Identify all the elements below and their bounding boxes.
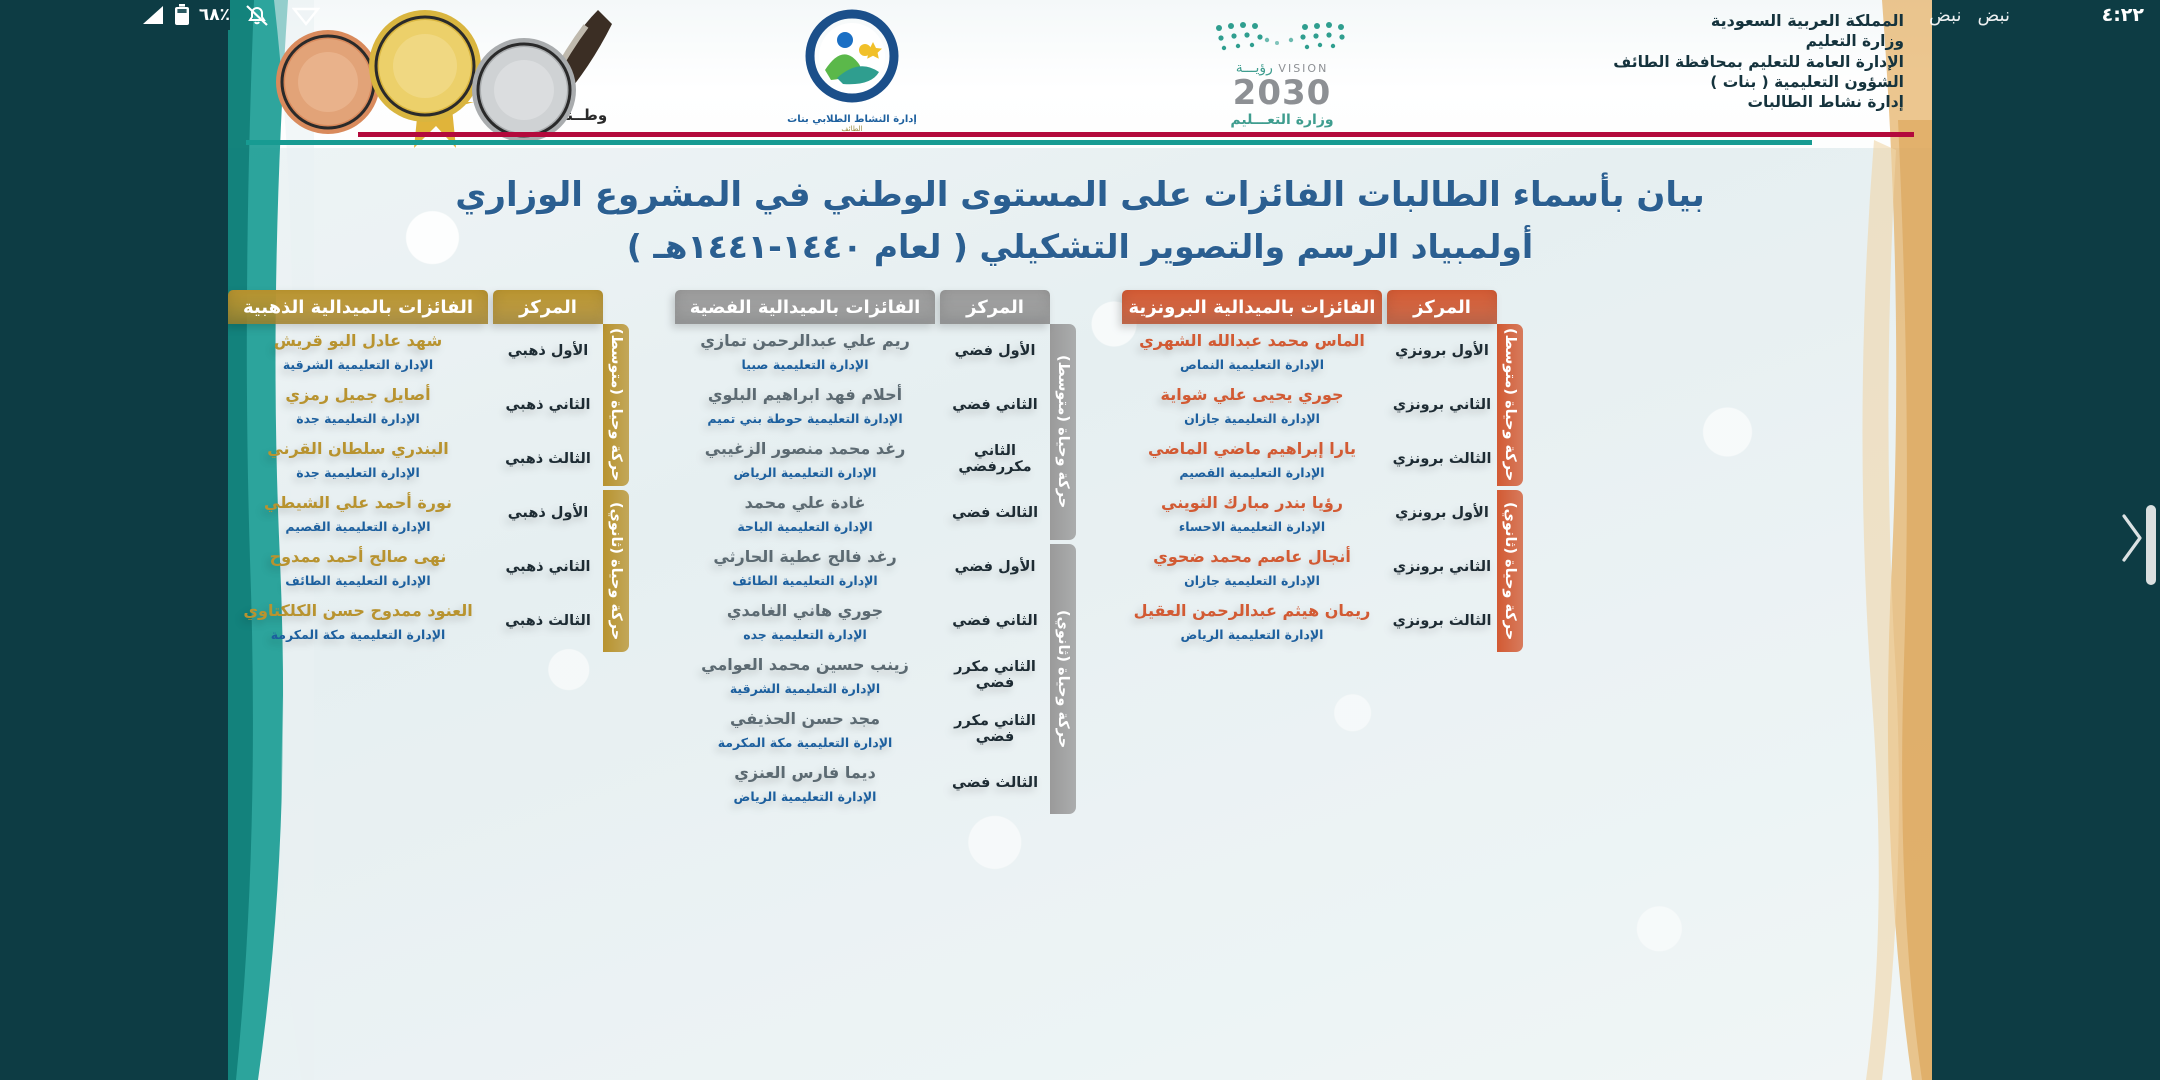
clock-label: ٤:٢٢ xyxy=(2102,4,2144,26)
rank-cell: الثاني برونزي xyxy=(1387,378,1497,432)
divider-teal xyxy=(246,140,1812,145)
rank-column: المركزالأول ذهبيالثاني ذهبيالثالث ذهبيال… xyxy=(488,290,603,648)
rank-cell: الأول برونزي xyxy=(1387,324,1497,378)
winner-name: ريمان هيثم عبدالرحمن العقيل xyxy=(1134,600,1371,622)
battery-percent-label: ٪٦٨ xyxy=(199,5,230,25)
winner-department: الإدارة التعليمية الرياض xyxy=(734,789,877,804)
medal-table-silver: حركة وحياة (متوسط)حركة وحياة (ثانوي)المر… xyxy=(675,290,1076,1070)
table-row: جوري يحيى علي شوايةالإدارة التعليمية جاز… xyxy=(1122,378,1382,432)
table-row: البندري سلطان القرنيالإدارة التعليمية جد… xyxy=(228,432,488,486)
table-row: العنود ممدوح حسن الكلكتاويالإدارة التعلي… xyxy=(228,594,488,648)
rank-cell: الثاني ذهبي xyxy=(493,378,603,432)
stage-strip-column: حركة وحياة (متوسط)حركة وحياة (ثانوي) xyxy=(1050,324,1076,814)
rank-cell: الثاني فضي xyxy=(940,378,1050,432)
winner-name: رغد محمد منصور الزغيبي xyxy=(705,438,906,460)
table-row: نورة أحمد علي الشيطيالإدارة التعليمية ال… xyxy=(228,486,488,540)
app-root: المملكة العربية السعودية وزارة التعليم ا… xyxy=(0,0,2160,1080)
winner-name: الماس محمد عبدالله الشهري xyxy=(1139,330,1365,352)
winner-name: شهد عادل البو قريش xyxy=(274,330,442,352)
winner-name: مجد حسن الحذيفي xyxy=(730,708,880,730)
winner-department: الإدارة التعليمية الشرقية xyxy=(283,357,433,372)
rank-cell: الثالث ذهبي xyxy=(493,594,603,648)
rank-cell: الأول برونزي xyxy=(1387,486,1497,540)
stage-label: حركة وحياة (متوسط) xyxy=(1497,324,1523,486)
rank-cell: الأول ذهبي xyxy=(493,324,603,378)
rank-cell: الثاني ذهبي xyxy=(493,540,603,594)
rank-cell: الثاني برونزي xyxy=(1387,540,1497,594)
table-row: أحلام فهد ابراهيم البلويالإدارة التعليمي… xyxy=(675,378,935,432)
winner-name: جوري هاني الغامدي xyxy=(727,600,883,622)
winner-name: ريم علي عبدالرحمن تمازي xyxy=(700,330,910,352)
column-header-winners: الفائزات بالميدالية البرونزية xyxy=(1122,290,1382,324)
table-row: غادة علي محمدالإدارة التعليمية الباحة xyxy=(675,486,935,540)
stage-label: حركة وحياة (متوسط) xyxy=(1050,324,1076,540)
rank-cell: الثاني مكرر فضي xyxy=(940,702,1050,756)
status-right-group: ٤:٢٢ xyxy=(2040,0,2160,30)
winner-name: العنود ممدوح حسن الكلكتاوي xyxy=(243,600,472,622)
winner-department: الإدارة التعليمية جازان xyxy=(1184,573,1320,588)
table-row: ريمان هيثم عبدالرحمن العقيلالإدارة التعل… xyxy=(1122,594,1382,648)
rank-cell: الثالث برونزي xyxy=(1387,594,1497,648)
winner-name: زينب حسين محمد العوامي xyxy=(701,654,909,676)
rank-column: المركزالأول فضيالثاني فضيالثاني مكررفضيا… xyxy=(935,290,1050,810)
winner-column: الفائزات بالميدالية الذهبيةشهد عادل البو… xyxy=(228,290,488,648)
table-grid: المركزالأول فضيالثاني فضيالثاني مكررفضيا… xyxy=(675,290,1050,810)
rank-cell: الأول ذهبي xyxy=(493,486,603,540)
table-row: يارا إبراهيم ماضي الماضيالإدارة التعليمي… xyxy=(1122,432,1382,486)
winner-department: الإدارة التعليمية الطائف xyxy=(732,573,877,588)
ministry-line-4: الشؤون التعليمية ( بنات ) xyxy=(1613,72,1904,92)
winner-department: الإدارة التعليمية النماص xyxy=(1180,357,1324,372)
stage-label: حركة وحياة (ثانوي) xyxy=(1050,544,1076,814)
winner-department: الإدارة التعليمية القصيم xyxy=(285,519,430,534)
document-page[interactable]: المملكة العربية السعودية وزارة التعليم ا… xyxy=(228,0,1932,1080)
divider-red xyxy=(358,132,1914,137)
winner-department: الإدارة التعليمية جدة xyxy=(296,465,420,480)
winner-department: الإدارة التعليمية جازان xyxy=(1184,411,1320,426)
app-title-label-2: نبض xyxy=(1929,5,1962,26)
rank-cell: الثاني مكررفضي xyxy=(940,432,1050,486)
ministry-line-3: الإدارة العامة للتعليم بمحافظة الطائف xyxy=(1613,52,1904,72)
column-header-rank: المركز xyxy=(493,290,603,324)
stage-label: حركة وحياة (ثانوي) xyxy=(1497,490,1523,652)
silver-medal-icon xyxy=(472,38,576,142)
winner-department: الإدارة التعليمية القصيم xyxy=(1179,465,1324,480)
rank-cell: الثاني مكرر فضي xyxy=(940,648,1050,702)
table-row: أنجال عاصم محمد ضحويالإدارة التعليمية جا… xyxy=(1122,540,1382,594)
title-line-2: أولمبياد الرسم والتصوير التشكيلي ( لعام … xyxy=(228,221,1932,272)
table-grid: المركزالأول برونزيالثاني برونزيالثالث بر… xyxy=(1122,290,1497,648)
rank-cell: الثاني فضي xyxy=(940,594,1050,648)
vision-2030-logo: VISION رؤيـــة 2030 وزارة التعـــليم xyxy=(1192,16,1372,128)
table-row: مجد حسن الحذيفيالإدارة التعليمية مكة الم… xyxy=(675,702,935,756)
stage-label: حركة وحياة (متوسط) xyxy=(603,324,629,486)
signal-icon xyxy=(141,4,165,26)
table-row: رغد محمد منصور الزغيبيالإدارة التعليمية … xyxy=(675,432,935,486)
winner-department: الإدارة التعليمية الشرقية xyxy=(730,681,880,696)
activity-logo-caption: إدارة النشاط الطلابي بنات xyxy=(772,114,932,125)
student-activity-logo: إدارة النشاط الطلابي بنات الطائف xyxy=(772,8,932,133)
winner-name: أصايل جميل رمزي xyxy=(285,384,430,406)
winner-name: جوري يحيى علي شواية xyxy=(1161,384,1344,406)
next-page-chevron-icon[interactable] xyxy=(2116,512,2146,568)
winner-department: الإدارة التعليمية مكة المكرمة xyxy=(718,735,893,750)
medals-illustration xyxy=(256,4,586,149)
table-row: نهى صالح أحمد ممدوحالإدارة التعليمية الط… xyxy=(228,540,488,594)
winner-name: أنجال عاصم محمد ضحوي xyxy=(1153,546,1351,568)
medal-table-gold: حركة وحياة (متوسط)حركة وحياة (ثانوي)المر… xyxy=(228,290,629,1070)
activity-emblem-icon xyxy=(797,8,907,108)
winner-department: الإدارة التعليمية صبيا xyxy=(742,357,869,372)
winner-name: رغد فالح عطية الحارثي xyxy=(713,546,896,568)
rank-cell: الأول فضي xyxy=(940,540,1050,594)
winner-name: ديما فارس العنزي xyxy=(734,762,876,784)
table-row: الماس محمد عبدالله الشهريالإدارة التعليم… xyxy=(1122,324,1382,378)
winner-department: الإدارة التعليمية جدة xyxy=(296,411,420,426)
winner-name: البندري سلطان القرني xyxy=(267,438,448,460)
app-title-labels: نبض نبض xyxy=(1929,1,2010,29)
winner-department: الإدارة التعليمية الطائف xyxy=(285,573,430,588)
ministry-heading: المملكة العربية السعودية وزارة التعليم ا… xyxy=(1613,10,1904,113)
gold-medal-icon xyxy=(369,10,481,148)
ministry-line-1: المملكة العربية السعودية xyxy=(1613,10,1904,31)
winner-name: يارا إبراهيم ماضي الماضي xyxy=(1148,438,1356,460)
column-header-winners: الفائزات بالميدالية الذهبية xyxy=(228,290,488,324)
winner-department: الإدارة التعليمية جده xyxy=(743,627,867,642)
rank-cell: الثالث فضي xyxy=(940,756,1050,810)
vision-ministry-label: وزارة التعـــليم xyxy=(1192,112,1372,128)
bronze-medal-icon xyxy=(276,30,380,134)
stage-strip-column: حركة وحياة (متوسط)حركة وحياة (ثانوي) xyxy=(603,324,629,652)
rank-cell: الثالث ذهبي xyxy=(493,432,603,486)
medal-tables-container: حركة وحياة (متوسط)حركة وحياة (ثانوي)المر… xyxy=(228,290,1932,1070)
app-title-label-1: نبض xyxy=(1978,5,2011,26)
document-header: المملكة العربية السعودية وزارة التعليم ا… xyxy=(228,0,1932,150)
column-header-winners: الفائزات بالميدالية الفضية xyxy=(675,290,935,324)
winner-name: نورة أحمد علي الشيطي xyxy=(264,492,452,514)
column-header-rank: المركز xyxy=(1387,290,1497,324)
table-row: رؤيا بندر مبارك الثوينيالإدارة التعليمية… xyxy=(1122,486,1382,540)
table-row: ديما فارس العنزيالإدارة التعليمية الرياض xyxy=(675,756,935,810)
winner-department: الإدارة التعليمية مكة المكرمة xyxy=(271,627,446,642)
winner-name: أحلام فهد ابراهيم البلوي xyxy=(708,384,902,406)
title-line-1: بيان بأسماء الطالبات الفائزات على المستو… xyxy=(228,170,1932,221)
vision-number: 2030 xyxy=(1192,76,1372,110)
winner-department: الإدارة التعليمية الاحساء xyxy=(1179,519,1325,534)
winner-name: رؤيا بندر مبارك الثويني xyxy=(1161,492,1343,514)
vision-dots-icon xyxy=(1192,16,1372,60)
scrollbar-thumb[interactable] xyxy=(2146,505,2156,585)
page-title: بيان بأسماء الطالبات الفائزات على المستو… xyxy=(228,170,1932,272)
rank-cell: الثالث برونزي xyxy=(1387,432,1497,486)
winner-name: غادة علي محمد xyxy=(745,492,866,514)
battery-icon xyxy=(174,4,190,26)
table-row: زينب حسين محمد العواميالإدارة التعليمية … xyxy=(675,648,935,702)
rank-column: المركزالأول برونزيالثاني برونزيالثالث بر… xyxy=(1382,290,1497,648)
table-row: رغد فالح عطية الحارثيالإدارة التعليمية ا… xyxy=(675,540,935,594)
rank-cell: الثالث فضي xyxy=(940,486,1050,540)
table-row: شهد عادل البو قريشالإدارة التعليمية الشر… xyxy=(228,324,488,378)
status-left-group: ٪٦٨ xyxy=(0,0,230,30)
column-header-rank: المركز xyxy=(940,290,1050,324)
table-row: ريم علي عبدالرحمن تمازيالإدارة التعليمية… xyxy=(675,324,935,378)
winner-column: الفائزات بالميدالية البرونزيةالماس محمد … xyxy=(1122,290,1382,648)
table-row: جوري هاني الغامديالإدارة التعليمية جده xyxy=(675,594,935,648)
ministry-line-5: إدارة نشاط الطالبات xyxy=(1613,92,1904,112)
winner-column: الفائزات بالميدالية الفضيةريم علي عبدالر… xyxy=(675,290,935,810)
winner-department: الإدارة التعليمية الباحة xyxy=(737,519,872,534)
table-grid: المركزالأول ذهبيالثاني ذهبيالثالث ذهبيال… xyxy=(228,290,603,648)
ministry-line-2: وزارة التعليم xyxy=(1613,31,1904,51)
winner-department: الإدارة التعليمية الرياض xyxy=(1181,627,1324,642)
winner-name: نهى صالح أحمد ممدوح xyxy=(270,546,447,568)
winner-department: الإدارة التعليمية حوطة بني تميم xyxy=(707,411,902,426)
winner-department: الإدارة التعليمية الرياض xyxy=(734,465,877,480)
medal-table-bronze: حركة وحياة (متوسط)حركة وحياة (ثانوي)المر… xyxy=(1122,290,1523,1070)
stage-label: حركة وحياة (ثانوي) xyxy=(603,490,629,652)
stage-strip-column: حركة وحياة (متوسط)حركة وحياة (ثانوي) xyxy=(1497,324,1523,652)
rank-cell: الأول فضي xyxy=(940,324,1050,378)
table-row: أصايل جميل رمزيالإدارة التعليمية جدة xyxy=(228,378,488,432)
